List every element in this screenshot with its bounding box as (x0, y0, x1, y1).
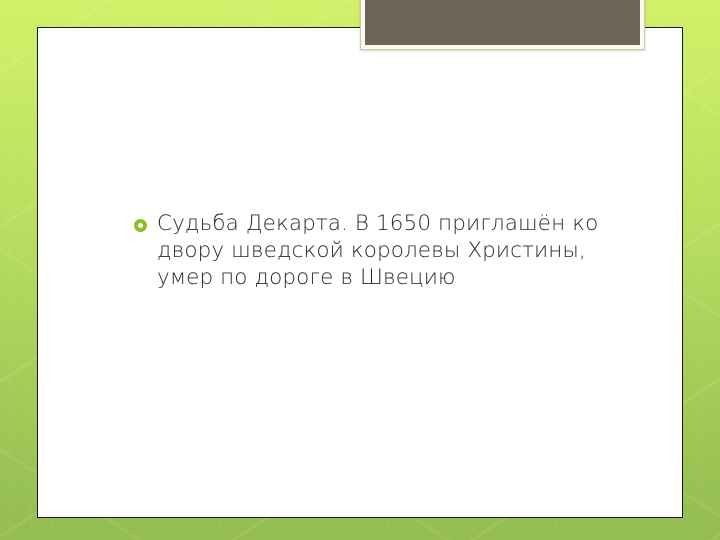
decorative-photo-frame (360, 0, 645, 50)
bullet-list-item: Судьба Декарта. В 1650 приглашён ко двор… (134, 210, 646, 291)
bullet-item-label: Судьба Декарта. В 1650 приглашён ко двор… (157, 210, 646, 291)
slide-content-panel: Судьба Декарта. В 1650 приглашён ко двор… (37, 27, 683, 518)
decorative-photo (365, 0, 640, 45)
slide-body-text: Судьба Декарта. В 1650 приглашён ко двор… (134, 210, 646, 291)
ring-bullet-icon (134, 219, 147, 232)
presentation-slide: Судьба Декарта. В 1650 приглашён ко двор… (0, 0, 720, 540)
